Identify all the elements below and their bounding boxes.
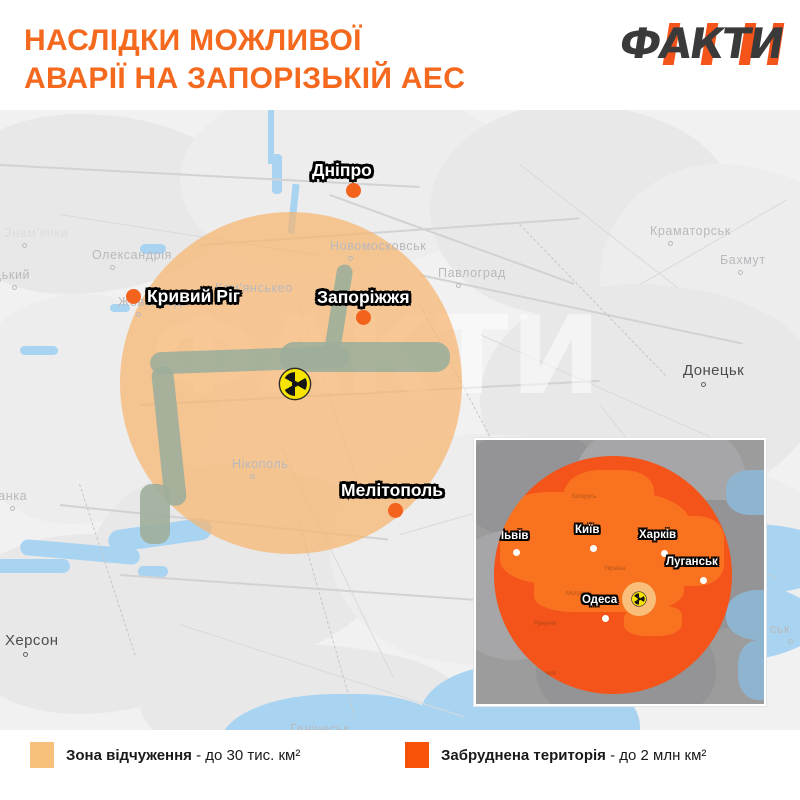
vegetation-band — [140, 484, 170, 544]
basemap-city-dot — [110, 265, 115, 270]
city-label: Мелітополь — [341, 480, 443, 501]
inset-city-dot — [602, 615, 609, 622]
city-dot — [356, 310, 371, 325]
basemap-city-dot — [738, 270, 743, 275]
main-map[interactable]: ФАКТИ Знам'янкаОлександріяцькийЖовті Вод… — [0, 104, 800, 730]
basemap-city-dot — [668, 241, 673, 246]
inset-region-label: Турція — [706, 678, 724, 684]
radiation-hazard-icon — [631, 591, 647, 607]
basemap-city-dot — [23, 652, 28, 657]
basemap-city-dot — [456, 283, 461, 288]
infographic-root: ФАКТИ Знам'янкаОлександріяцькийЖовті Вод… — [0, 0, 800, 800]
basemap-city-label: ськ — [770, 622, 790, 636]
inset-city-label: Харків — [639, 529, 676, 541]
inset-city-dot — [590, 545, 597, 552]
legend-label: Забруднена територія — [441, 747, 606, 764]
inset-region-label: Румунія — [534, 621, 556, 627]
inset-map[interactable]: УкраїнаМолдоваРумуніяБолгаріяБілорусьТур… — [474, 438, 766, 706]
basemap-city-dot — [348, 256, 353, 261]
logo-text: ФАКТИ — [588, 18, 786, 70]
basemap-city-dot — [22, 243, 27, 248]
inset-city-label: Львів — [496, 530, 528, 542]
city-dot — [126, 289, 141, 304]
legend-text: Забруднена територія - до 2 млн км² — [441, 747, 706, 764]
basemap-city-dot — [701, 382, 706, 387]
inset-region-label: Болгарія — [532, 671, 556, 677]
legend-value: - до 30 тис. км² — [192, 747, 300, 764]
ukraine-landmass — [634, 516, 724, 586]
inset-city-label: Одеса — [582, 594, 617, 606]
basemap-city-label: Донецьк — [683, 362, 744, 379]
legend: Зона відчуження - до 30 тис. км²Забрудне… — [0, 730, 800, 800]
basemap-city-label: Павлоград — [438, 266, 506, 280]
basemap-city-label: Новомосковськ — [330, 239, 426, 253]
radiation-hazard-icon — [278, 367, 312, 401]
legend-item: Зона відчуження - до 30 тис. км² — [30, 742, 300, 768]
basemap-city-label: Нікополь — [232, 457, 288, 471]
legend-item: Забруднена територія - до 2 млн км² — [405, 742, 706, 768]
city-dot — [388, 503, 403, 518]
basemap-city-dot — [136, 312, 141, 317]
basemap-city-label: Краматорськ — [650, 224, 731, 238]
legend-value: - до 2 млн км² — [606, 747, 707, 764]
basemap-city-label: танка — [0, 489, 27, 503]
basemap-city-dot — [250, 474, 255, 479]
basemap-city-label: Генічеськ — [290, 722, 350, 730]
basemap-city-dot — [12, 285, 17, 290]
basemap-city-label: Бахмут — [720, 253, 766, 267]
inset-city-dot — [513, 549, 520, 556]
basemap-city-dot — [10, 506, 15, 511]
inset-region-label: Україна — [604, 566, 625, 572]
city-label: Запоріжжя — [317, 287, 410, 308]
header: НАСЛІДКИ МОЖЛИВОЇ АВАРІЇ НА ЗАПОРІЗЬКІЙ … — [0, 0, 800, 110]
city-dot — [346, 183, 361, 198]
legend-label: Зона відчуження — [66, 747, 192, 764]
fakty-logo[interactable]: ФАКТИ — [592, 18, 782, 70]
inset-city-dot — [700, 577, 707, 584]
inset-city-label: Луганськ — [666, 556, 718, 568]
legend-text: Зона відчуження - до 30 тис. км² — [66, 747, 300, 764]
contamination-zone-circle: УкраїнаМолдоваРумуніяБолгаріяБілорусьТур… — [494, 456, 732, 694]
inset-region-label: Білорусь — [572, 494, 597, 500]
basemap-city-label: Херсон — [5, 632, 58, 649]
city-label: Дніпро — [312, 160, 372, 181]
legend-swatch — [405, 742, 429, 768]
inset-city-label: Київ — [575, 524, 599, 536]
city-label: Кривий Ріг — [147, 286, 240, 307]
basemap-city-label: цький — [0, 268, 30, 282]
basemap-city-label: Олександрія — [92, 248, 172, 262]
page-title: НАСЛІДКИ МОЖЛИВОЇ АВАРІЇ НА ЗАПОРІЗЬКІЙ … — [24, 22, 584, 99]
basemap-city-label: Знам'янка — [4, 226, 68, 240]
legend-swatch — [30, 742, 54, 768]
basemap-city-dot — [788, 639, 793, 644]
